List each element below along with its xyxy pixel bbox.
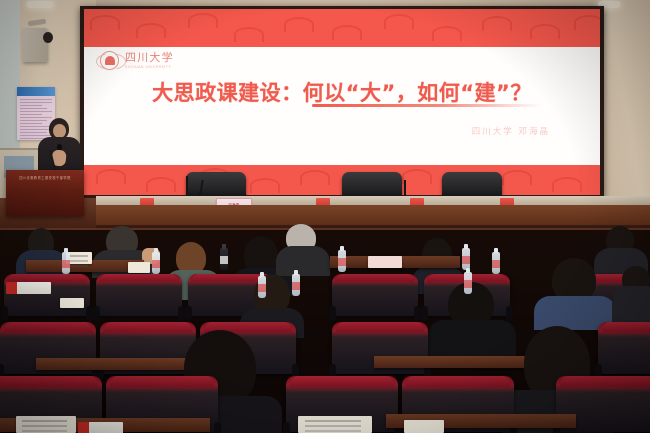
cloud-motif-icon: [84, 9, 600, 47]
sichuan-university-emblem-icon: [100, 51, 119, 70]
presenter-face: [53, 124, 66, 138]
handout: [298, 416, 372, 433]
logo-ring-icon: [96, 53, 126, 70]
water-bottle: [462, 248, 470, 270]
list-item: [616, 266, 650, 322]
presentation-screen: 四川大学 SICHUAN UNIVERSITY 大思政课建设：何以“大”，如何“…: [84, 9, 600, 195]
water-bottle: [62, 252, 70, 274]
head-table-front: [96, 205, 650, 227]
list-item: [278, 224, 326, 274]
water-bottle: [220, 248, 228, 270]
organization-logo: 四川大学 SICHUAN UNIVERSITY: [100, 51, 174, 70]
slide-top-banner: [84, 9, 600, 47]
head-table-chair: [442, 172, 502, 198]
head-table-chair: [186, 172, 246, 198]
presenter: [36, 118, 82, 176]
list-item: [540, 258, 610, 324]
wall-speaker-icon: [22, 28, 47, 62]
water-bottle: [464, 272, 472, 294]
seat[interactable]: [4, 274, 90, 316]
speaker-podium: 四川省委教育工委党校干部学院: [6, 170, 84, 216]
handout: [16, 416, 76, 433]
lecture-hall-photo: 四川大学 SICHUAN UNIVERSITY 大思政课建设：何以“大”，如何“…: [0, 0, 650, 433]
seat-number-tag: [78, 422, 123, 433]
head-table-surface: [96, 196, 650, 205]
water-bottle: [258, 276, 266, 298]
right-wall: [602, 0, 650, 218]
poster-header: [17, 87, 55, 96]
drink-cup: [128, 262, 150, 273]
water-bottle: [152, 252, 160, 274]
organization-logo-text: 四川大学: [125, 53, 174, 64]
head-table-chair: [342, 172, 402, 198]
water-bottle: [338, 250, 346, 272]
title-underline-accent: [312, 104, 542, 107]
handout: [368, 256, 402, 268]
audience-area: [0, 230, 650, 433]
slide-content-area: 四川大学 SICHUAN UNIVERSITY 大思政课建设：何以“大”，如何“…: [84, 47, 600, 165]
slide-title: 大思政课建设：何以“大”，如何“建”？: [84, 77, 600, 107]
list-item: [436, 282, 508, 352]
water-bottle: [292, 274, 300, 296]
water-bottle: [492, 252, 500, 274]
ceiling-light: [27, 1, 53, 8]
seat[interactable]: [96, 274, 182, 316]
podium-label: 四川省委教育工委党校干部学院: [11, 175, 79, 180]
handout: [60, 298, 84, 308]
seat[interactable]: [332, 274, 418, 316]
seat-number-tag: [6, 282, 51, 294]
handout: [404, 420, 444, 433]
slide-author-line: 四川大学 邓海晶: [472, 125, 550, 137]
organization-logo-subtext: SICHUAN UNIVERSITY: [125, 65, 174, 69]
